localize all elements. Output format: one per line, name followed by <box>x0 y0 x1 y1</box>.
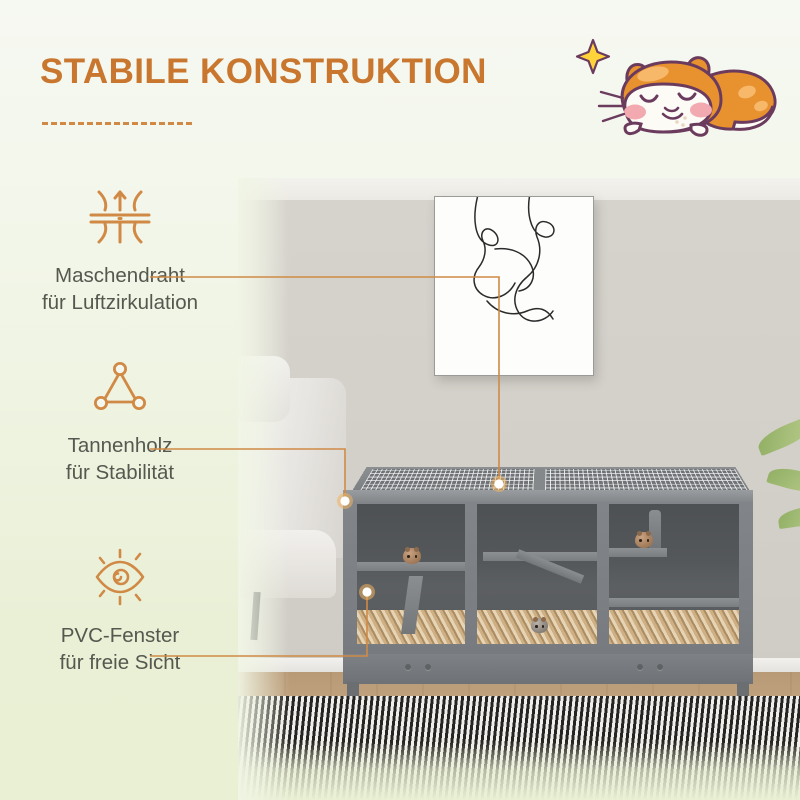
feature-item-mesh: Maschendraht für Luftzirkulation <box>0 188 240 316</box>
screw <box>425 664 431 670</box>
hamster <box>531 618 548 633</box>
screw <box>637 664 643 670</box>
pvc-window-panel <box>477 504 597 644</box>
shelf <box>609 548 667 557</box>
feature-label: PVC-Fenster für freie Sicht <box>0 622 240 676</box>
pvc-window-panel <box>609 504 739 644</box>
bedding <box>609 610 739 644</box>
feature-label: Tannenholz für Stabilität <box>0 432 240 486</box>
wire-mesh-panel-left <box>359 469 534 492</box>
feature-item-window: PVC-Fenster für freie Sicht <box>0 548 240 676</box>
product-photo <box>238 178 800 800</box>
infographic-page: STABILE KONSTRUKTION <box>0 0 800 800</box>
page-title: STABILE KONSTRUKTION <box>40 52 487 92</box>
airflow-mesh-icon <box>83 188 157 246</box>
hamster-cage <box>343 456 753 684</box>
wire-mesh-panel-right <box>545 469 749 492</box>
photo-left-fade <box>238 178 290 800</box>
screw <box>405 664 411 670</box>
sparkle-icon <box>577 40 609 73</box>
wall-art-canvas <box>434 196 594 376</box>
hamster <box>403 548 421 564</box>
shelf <box>609 598 739 607</box>
triangle-stability-icon <box>83 358 157 416</box>
hamster-mascot <box>565 32 795 157</box>
pvc-window-panel <box>357 504 465 644</box>
hamster <box>635 532 653 548</box>
screw <box>657 664 663 670</box>
feature-label: Maschendraht für Luftzirkulation <box>0 262 240 316</box>
feature-item-wood: Tannenholz für Stabilität <box>0 358 240 486</box>
rug-fade-overlay <box>238 742 800 800</box>
cage-base-panel <box>343 654 753 684</box>
title-dashed-rule <box>42 122 192 125</box>
eye-vision-icon <box>83 548 157 606</box>
cage-body <box>343 490 753 684</box>
cage-top-rim <box>343 490 753 502</box>
